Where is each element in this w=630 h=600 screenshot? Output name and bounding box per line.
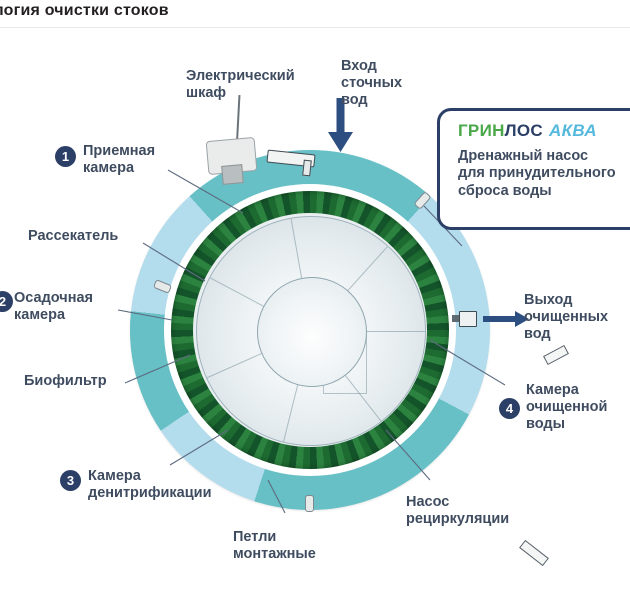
label-mounting-loops: Петли монтажные — [233, 529, 316, 563]
label-line: Приемная — [83, 143, 155, 160]
badge-denitrification-chamber: 3 — [60, 470, 81, 491]
label-line: Электрический — [186, 68, 295, 85]
label-line: воды — [526, 416, 607, 433]
brand-part-green: ГРИН — [458, 121, 505, 140]
label-line: монтажные — [233, 546, 316, 563]
badge-receiving-chamber: 1 — [55, 146, 76, 167]
electric-cabinet-base — [221, 164, 244, 185]
label-clean-water-outlet: Выход очищенных вод — [524, 292, 608, 343]
label-line: вод — [524, 326, 608, 343]
label-line: вод — [341, 92, 402, 109]
treatment-plant-cutaway — [130, 150, 490, 510]
label-line: Выход — [524, 292, 608, 309]
label-distributor: Рассекатель — [28, 228, 118, 245]
label-line: Насос — [406, 494, 509, 511]
label-receiving-chamber: Приемная камера — [83, 143, 155, 177]
dome-center-ring — [257, 277, 367, 387]
label-line: рециркуляции — [406, 511, 509, 528]
label-line: сточных — [341, 75, 402, 92]
wastewater-inlet-stub — [302, 160, 312, 177]
label-line: шкаф — [186, 85, 295, 102]
label-line: камера — [14, 307, 93, 324]
brand-part-aqua: АКВА — [549, 121, 597, 140]
badge-settling-chamber: 2 — [0, 291, 13, 312]
label-line: Камера — [88, 468, 211, 485]
callout-line: Дренажный насос — [458, 148, 630, 165]
mounting-loop — [305, 495, 314, 512]
label-electric-cabinet: Электрический шкаф — [186, 68, 295, 102]
callout-description: Дренажный насос для принудительного сбро… — [458, 148, 630, 200]
label-wastewater-inlet: Вход сточных вод — [341, 58, 402, 109]
diagram-canvas: ...ология очистки стоков — [0, 0, 630, 600]
badge-clean-water-chamber: 4 — [499, 398, 520, 419]
callout-line: для принудительного — [458, 165, 630, 182]
label-line: очищенной — [526, 399, 607, 416]
label-line: Рассекатель — [28, 228, 118, 245]
outlet-arrow-icon — [483, 311, 529, 327]
callout-line: сброса воды — [458, 183, 630, 200]
label-line: очищенных — [524, 309, 608, 326]
title-divider — [0, 27, 630, 28]
brand-part-navy: ЛОС — [505, 121, 543, 140]
label-line: Камера — [526, 382, 607, 399]
label-line: Осадочная — [14, 290, 93, 307]
label-line: Петли — [233, 529, 316, 546]
central-dome — [196, 216, 426, 446]
brand-logo: ГРИНЛОСАКВА — [458, 121, 630, 141]
label-line: Биофильтр — [24, 373, 107, 390]
recirculation-pump-pipe — [519, 540, 549, 566]
label-clean-water-chamber: Камера очищенной воды — [526, 382, 607, 433]
label-recirculation-pump: Насос рециркуляции — [406, 494, 509, 528]
label-settling-chamber: Осадочная камера — [14, 290, 93, 324]
label-denitrification-chamber: Камера денитрификации — [88, 468, 211, 502]
drainage-pump-pipe — [543, 345, 569, 365]
label-line: денитрификации — [88, 485, 211, 502]
clean-water-outlet-fitting — [459, 311, 477, 327]
page-title: ...ология очистки стоков — [0, 2, 169, 20]
drainage-pump-callout: ГРИНЛОСАКВА Дренажный насос для принудит… — [437, 108, 630, 230]
label-line: камера — [83, 160, 155, 177]
label-biofilter: Биофильтр — [24, 373, 107, 390]
label-line: Вход — [341, 58, 402, 75]
